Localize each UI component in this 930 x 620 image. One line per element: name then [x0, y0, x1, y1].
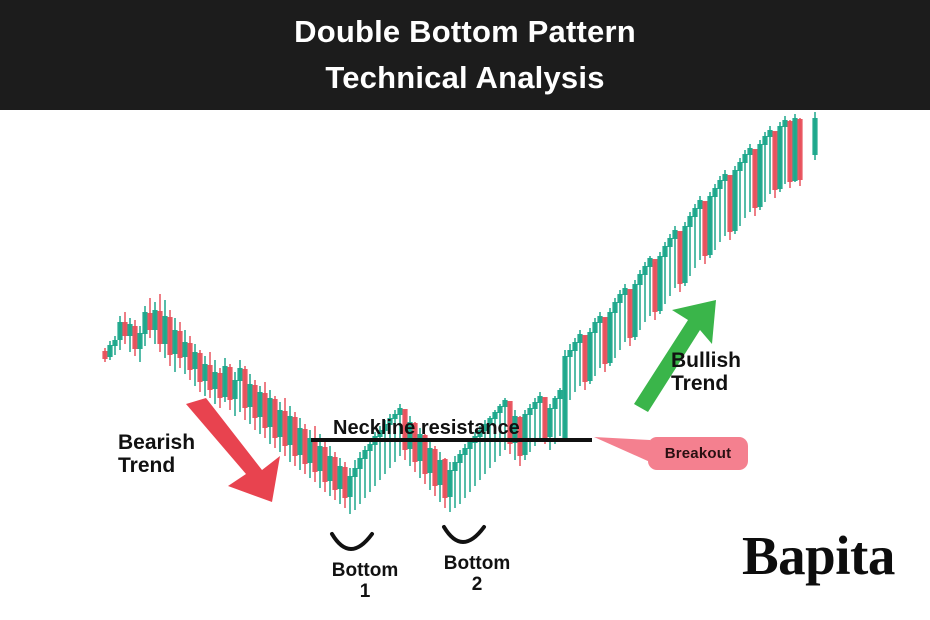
bearish-trend-label: Bearish Trend [118, 432, 195, 477]
bottom-1-label: Bottom 1 [319, 561, 411, 602]
page-title-line1: Double Bottom Pattern [294, 10, 636, 54]
page-title-line2: Technical Analysis [325, 56, 604, 100]
breakout-badge-label: Breakout [665, 445, 732, 462]
bottom-2-label: Bottom 2 [431, 554, 523, 595]
breakout-badge: Breakout [648, 437, 748, 470]
neckline-resistance-label: Neckline resistance [333, 418, 520, 440]
infographic-root: Double Bottom Pattern Technical Analysis… [0, 0, 930, 620]
header-banner: Double Bottom Pattern Technical Analysis [0, 0, 930, 110]
bullish-trend-label: Bullish Trend [671, 350, 741, 395]
brand-watermark: Bapita [742, 524, 895, 587]
